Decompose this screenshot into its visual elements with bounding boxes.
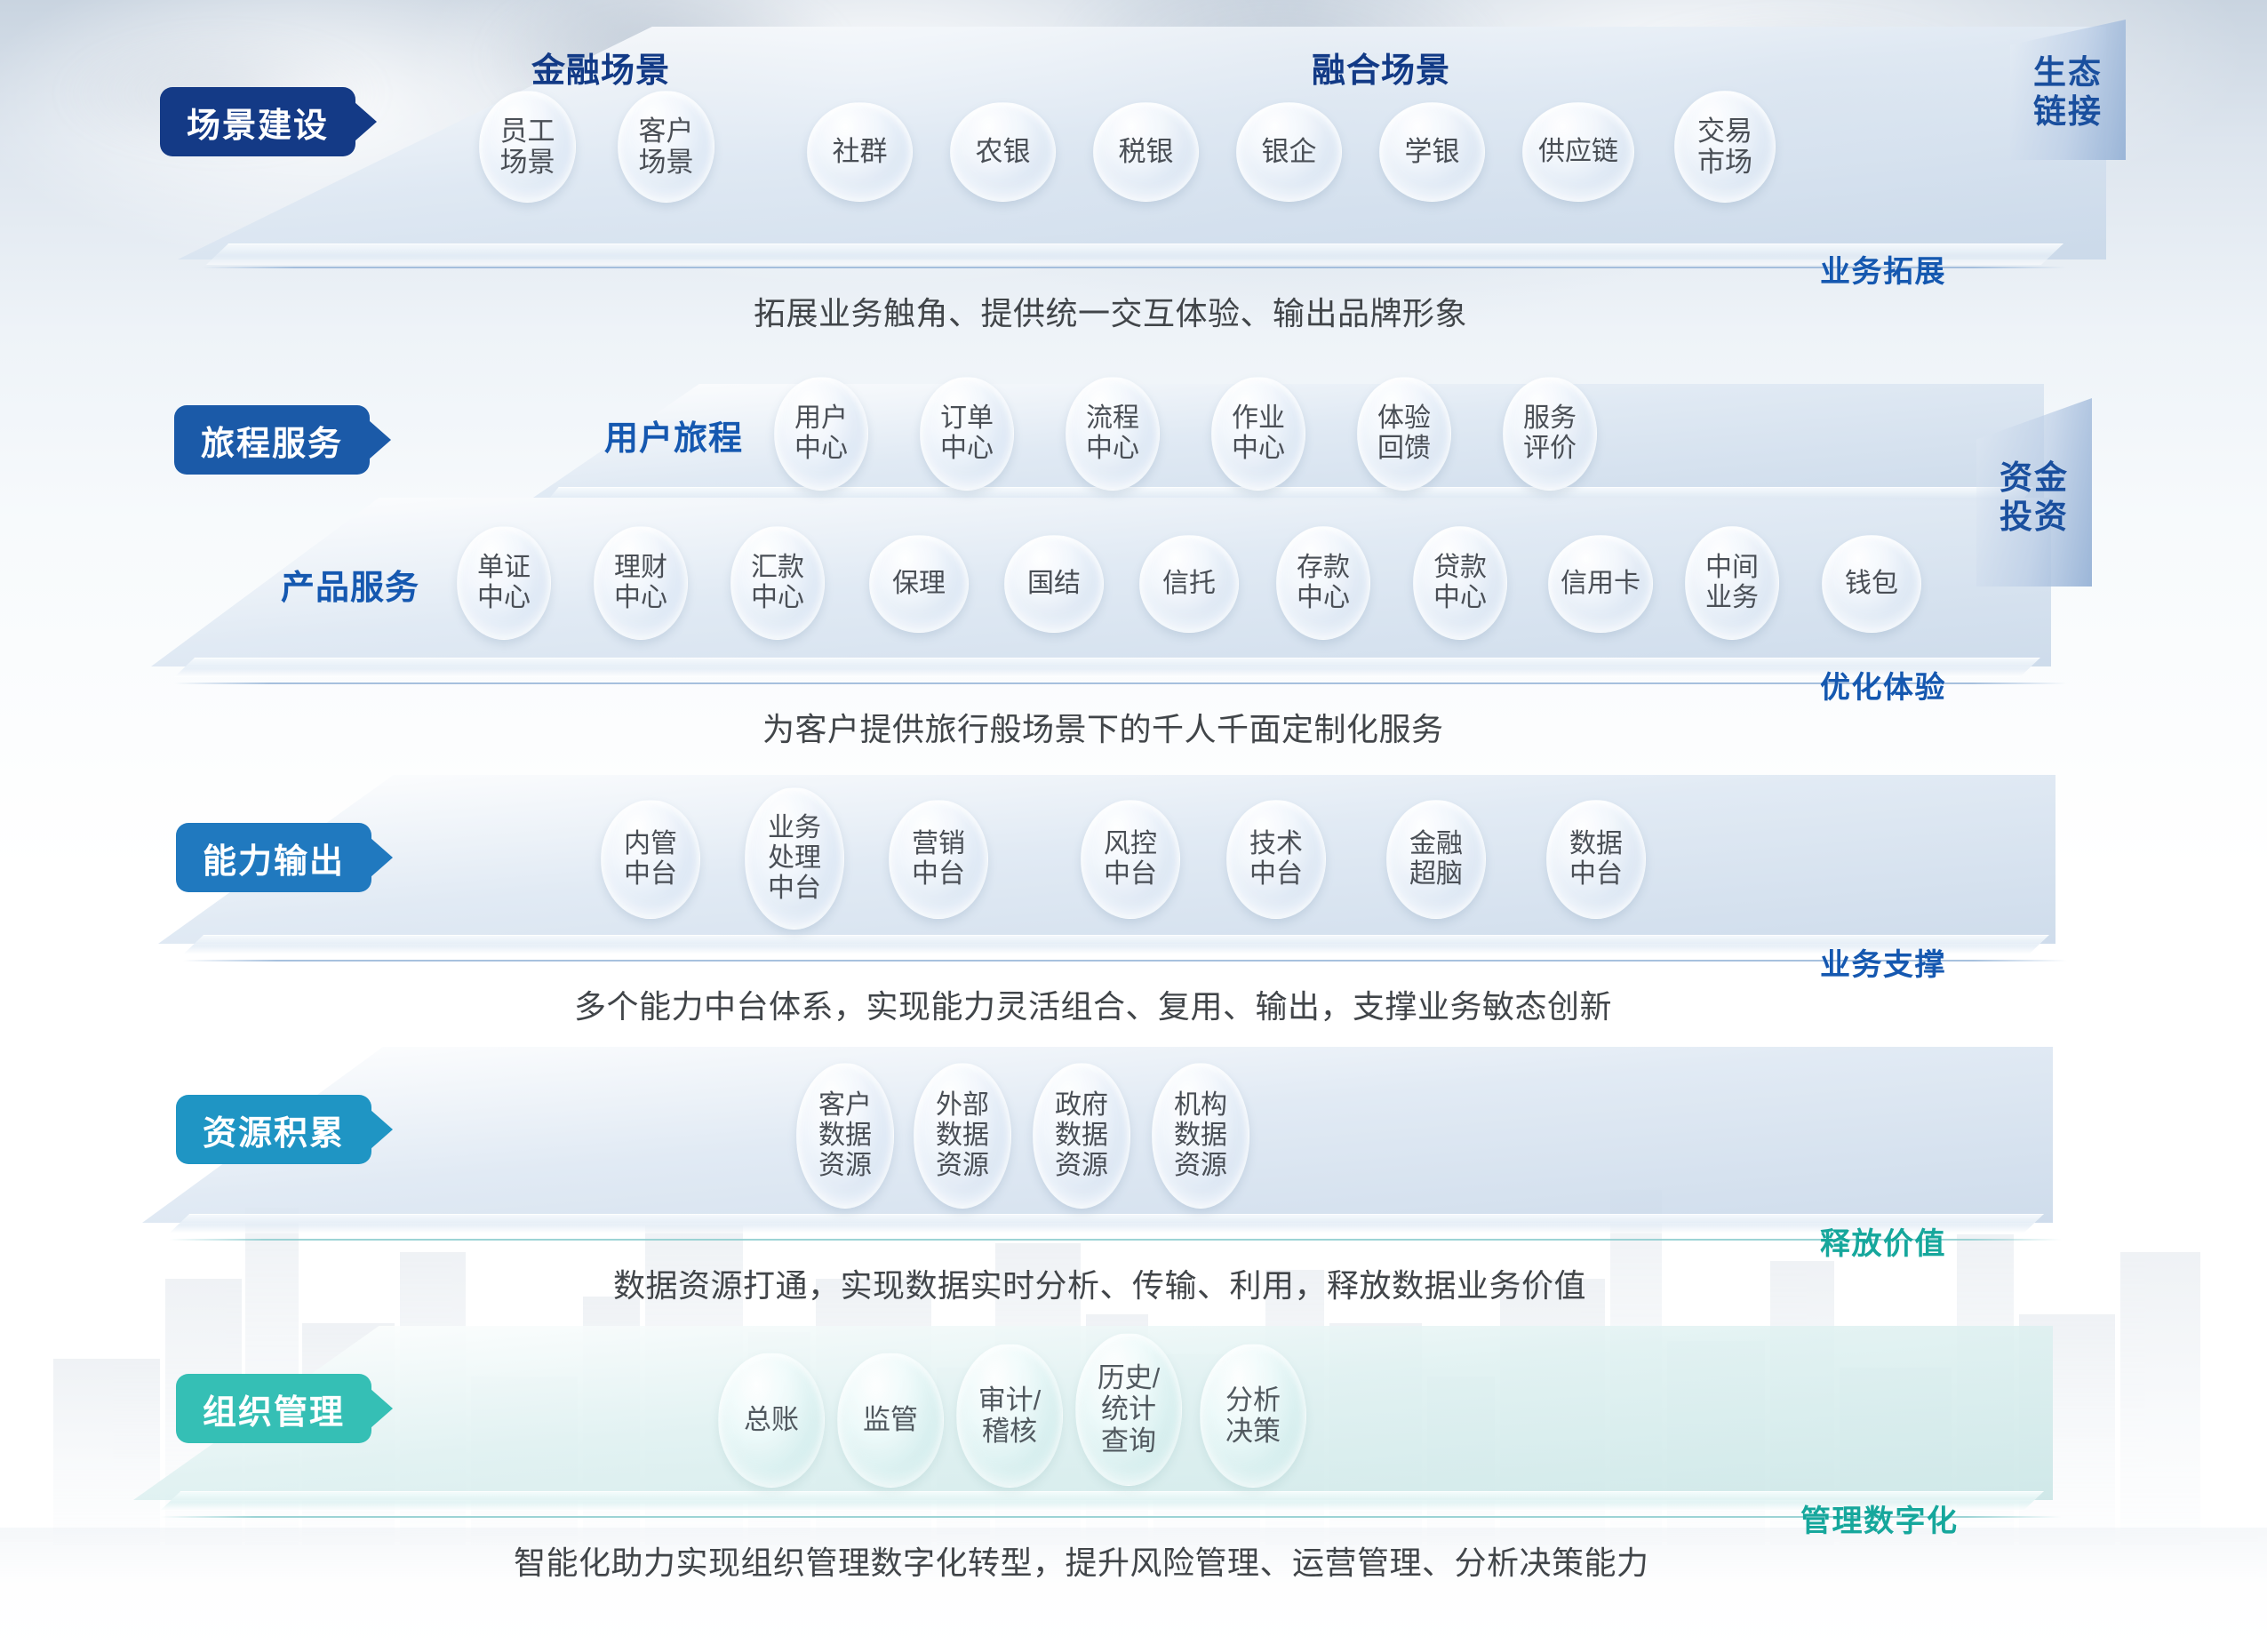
platform-slab-capability	[183, 935, 2049, 954]
group-title-financial-scene: 金融场景	[531, 43, 670, 92]
layer-label-organization-management[interactable]: 组织管理	[176, 1374, 371, 1443]
caption-scene-construction: 拓展业务触角、提供统一交互体验、输出品牌形象	[754, 288, 1467, 334]
bubble-regulation[interactable]: 监管	[837, 1353, 944, 1488]
layer-label-resource-accumulation[interactable]: 资源积累	[176, 1095, 371, 1164]
bubble-loan-center[interactable]: 贷款中心	[1413, 526, 1507, 640]
row-title-product-service: 产品服务	[281, 560, 419, 609]
bubble-international-settlement[interactable]: 国结	[1004, 535, 1104, 633]
bubble-community[interactable]: 社群	[807, 102, 913, 202]
separator-business-expansion	[201, 267, 2067, 268]
bubble-data-platform[interactable]: 数据中台	[1546, 800, 1646, 919]
bubble-order-center[interactable]: 订单中心	[920, 377, 1014, 491]
tag-release-value: 释放价值	[1820, 1219, 1946, 1263]
side-panel-text: 生态链接	[2010, 53, 2126, 131]
caption-journey-service: 为客户提供旅行般场景下的千人千面定制化服务	[762, 704, 1444, 750]
separator-business-support	[183, 960, 2067, 962]
caption-capability-output: 多个能力中台体系，实现能力灵活组合、复用、输出，支撑业务敏态创新	[574, 981, 1612, 1027]
bubble-analysis-decision[interactable]: 分析决策	[1200, 1344, 1306, 1488]
separator-release-value	[169, 1239, 2062, 1241]
platform-slab-organization	[160, 1491, 2044, 1511]
row-title-user-journey: 用户旅程	[604, 411, 743, 459]
bubble-history-statistics-query[interactable]: 历史/统计查询	[1075, 1333, 1182, 1486]
bubble-service-evaluation[interactable]: 服务评价	[1503, 377, 1597, 491]
bubble-institution-data-resource[interactable]: 机构数据资源	[1152, 1063, 1249, 1209]
tag-business-support: 业务支撑	[1820, 940, 1946, 984]
bubble-wallet[interactable]: 钱包	[1822, 535, 1921, 633]
bubble-process-center[interactable]: 流程中心	[1066, 377, 1160, 491]
bubble-supply-chain[interactable]: 供应链	[1522, 102, 1634, 202]
bubble-remittance-center[interactable]: 汇款中心	[730, 526, 825, 640]
bubble-general-ledger[interactable]: 总账	[718, 1353, 825, 1488]
layer-label-scene-construction[interactable]: 场景建设	[160, 87, 355, 156]
bubble-external-data-resource[interactable]: 外部数据资源	[914, 1063, 1011, 1209]
layer-label-capability-output[interactable]: 能力输出	[176, 823, 371, 892]
bubble-tax-bank[interactable]: 税银	[1093, 102, 1199, 202]
bubble-risk-control-platform[interactable]: 风控中台	[1081, 800, 1180, 919]
bubble-agri-bank[interactable]: 农银	[950, 102, 1056, 202]
bubble-operation-center[interactable]: 作业中心	[1211, 377, 1305, 491]
bubble-customer-data-resource[interactable]: 客户数据资源	[796, 1063, 894, 1209]
bubble-credit-card[interactable]: 信用卡	[1548, 535, 1653, 633]
bubble-business-process-platform[interactable]: 业务处理中台	[745, 787, 844, 930]
bubble-financial-brain[interactable]: 金融超脑	[1386, 800, 1486, 919]
bubble-intermediary-business[interactable]: 中间业务	[1685, 526, 1779, 640]
platform-slab-scene	[206, 243, 2063, 265]
caption-organization-management: 智能化助力实现组织管理数字化转型，提升风险管理、运营管理、分析决策能力	[514, 1537, 1649, 1584]
bubble-deposit-center[interactable]: 存款中心	[1276, 526, 1370, 640]
platform-slab-resource	[169, 1214, 2044, 1233]
tag-optimize-experience: 优化体验	[1820, 663, 1946, 706]
caption-resource-accumulation: 数据资源打通，实现数据实时分析、传输、利用，释放数据业务价值	[613, 1260, 1586, 1306]
bubble-school-bank[interactable]: 学银	[1379, 102, 1485, 202]
bubble-employee-scene[interactable]: 员工场景	[479, 91, 576, 203]
side-panel-text: 资金投资	[1976, 459, 2092, 536]
tag-management-digitalization: 管理数字化	[1800, 1496, 1959, 1540]
bubble-trust[interactable]: 信托	[1139, 535, 1239, 633]
bubble-wealth-center[interactable]: 理财中心	[594, 526, 688, 640]
bubble-factoring[interactable]: 保理	[869, 535, 969, 633]
layer-label-journey-service[interactable]: 旅程服务	[174, 405, 370, 475]
bubble-audit-inspection[interactable]: 审计/稽核	[956, 1344, 1063, 1488]
platform-slab-product-service	[174, 658, 2040, 677]
bubble-customer-scene[interactable]: 客户场景	[618, 91, 714, 203]
separator-optimize-experience	[174, 682, 2067, 684]
separator-management-digitalization	[160, 1516, 2062, 1518]
bubble-user-center[interactable]: 用户中心	[774, 377, 868, 491]
tag-business-expansion: 业务拓展	[1820, 247, 1946, 291]
bubble-experience-feedback[interactable]: 体验回馈	[1357, 377, 1451, 491]
bubble-technology-platform[interactable]: 技术中台	[1226, 800, 1326, 919]
bubble-document-center[interactable]: 单证中心	[457, 526, 551, 640]
bubble-government-data-resource[interactable]: 政府数据资源	[1033, 1063, 1130, 1209]
bubble-bank-enterprise[interactable]: 银企	[1236, 102, 1342, 202]
bubble-trading-market[interactable]: 交易市场	[1674, 91, 1776, 203]
group-title-integration-scene: 融合场景	[1312, 43, 1450, 92]
bubble-marketing-platform[interactable]: 营销中台	[889, 800, 988, 919]
bubble-internal-mgmt-platform[interactable]: 内管中台	[601, 800, 700, 919]
